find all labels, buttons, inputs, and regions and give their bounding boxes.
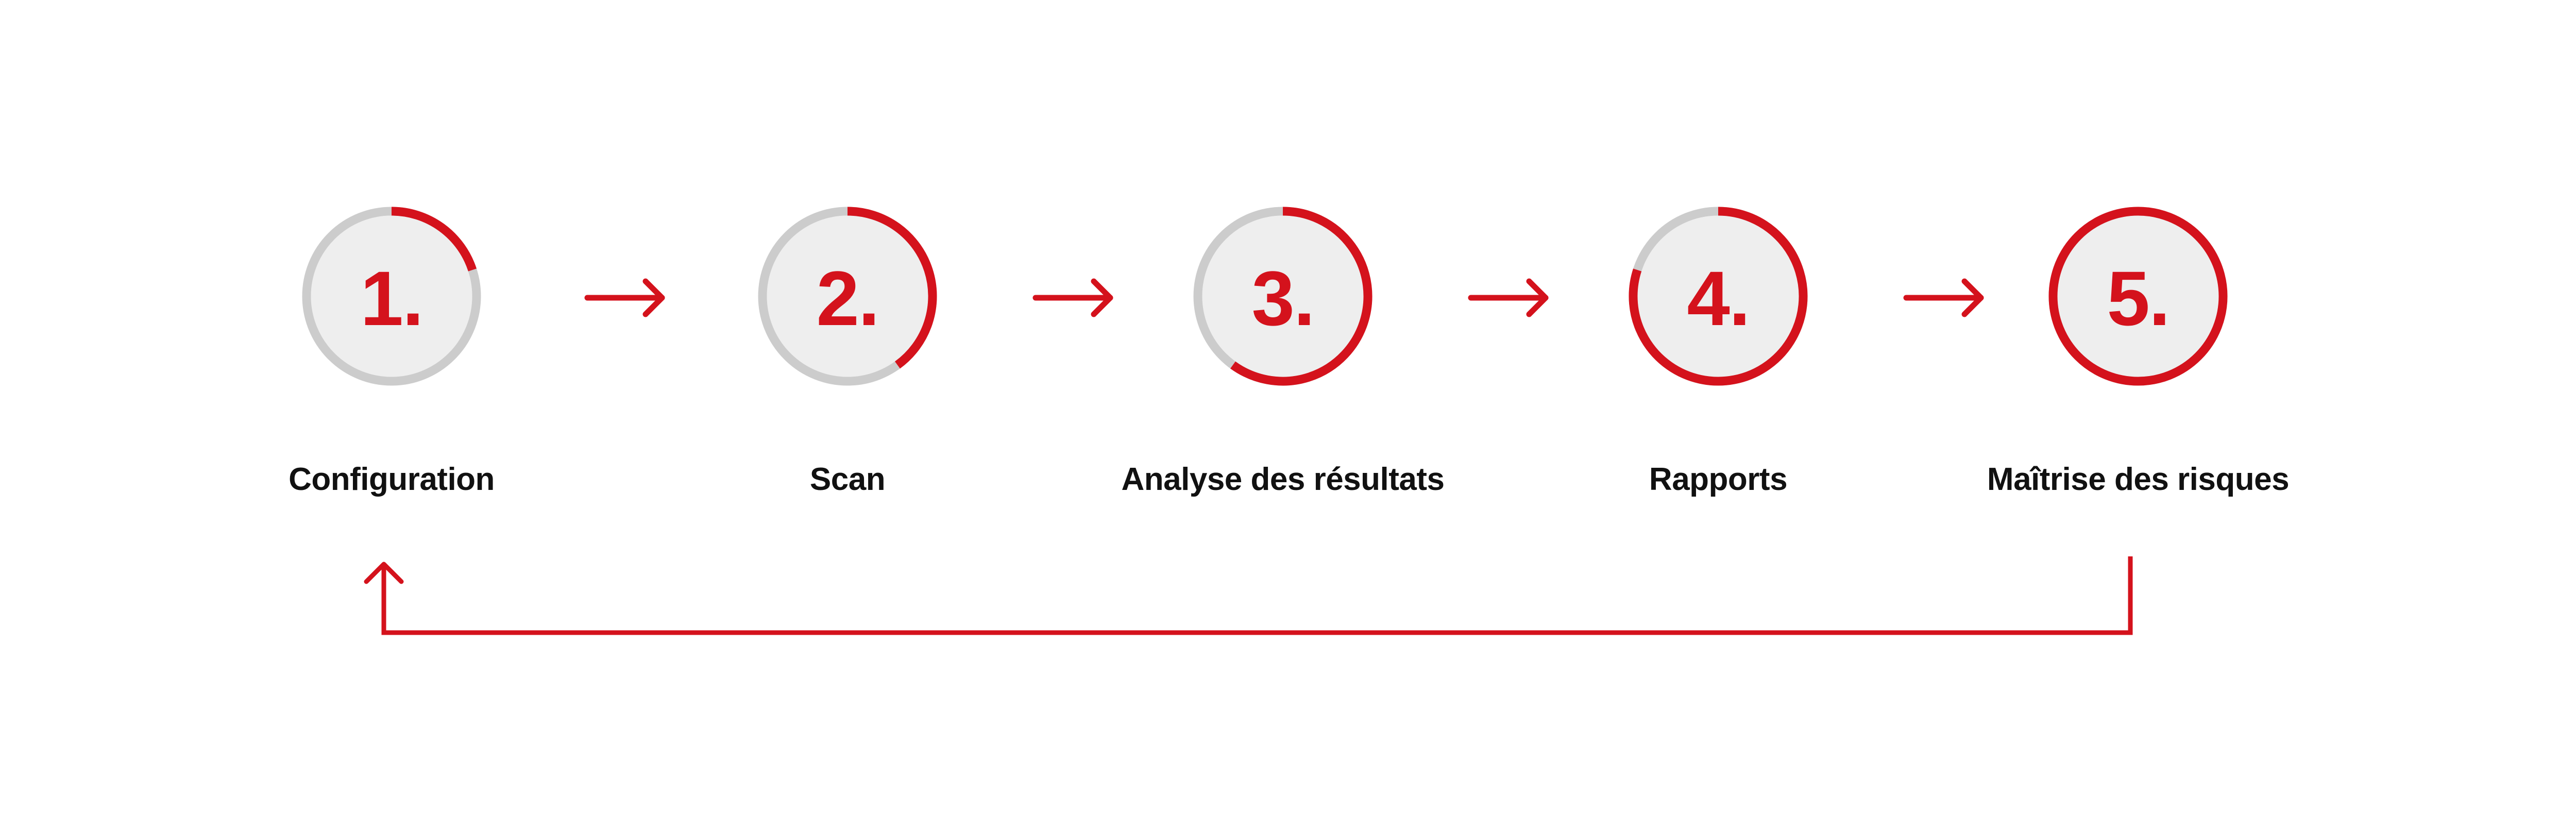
feedback-loop-arrow [366, 556, 2130, 633]
arrow-1-to-2 [587, 281, 662, 314]
step-label-1: Configuration [289, 464, 495, 496]
arrow-3-to-4 [1471, 281, 1546, 314]
step-label-3: Analyse des résultats [1121, 464, 1444, 496]
step-label-2: Scan [810, 464, 885, 496]
step-number-4: 4. [1687, 260, 1749, 337]
arrow-4-to-5 [1906, 281, 1981, 314]
step-number-2: 2. [816, 260, 878, 337]
process-flow-diagram: 1.Configuration2.Scan3.Analyse des résul… [0, 0, 2576, 832]
step-number-3: 3. [1251, 260, 1314, 337]
step-label-5: Maîtrise des risques [1987, 464, 2289, 496]
step-label-4: Rapports [1649, 464, 1787, 496]
flow-graphics [0, 0, 2576, 832]
step-number-1: 1. [360, 260, 422, 337]
step-number-5: 5. [2107, 260, 2169, 337]
arrow-2-to-3 [1036, 281, 1110, 314]
feedback-loop-arrow-path [384, 556, 2130, 633]
